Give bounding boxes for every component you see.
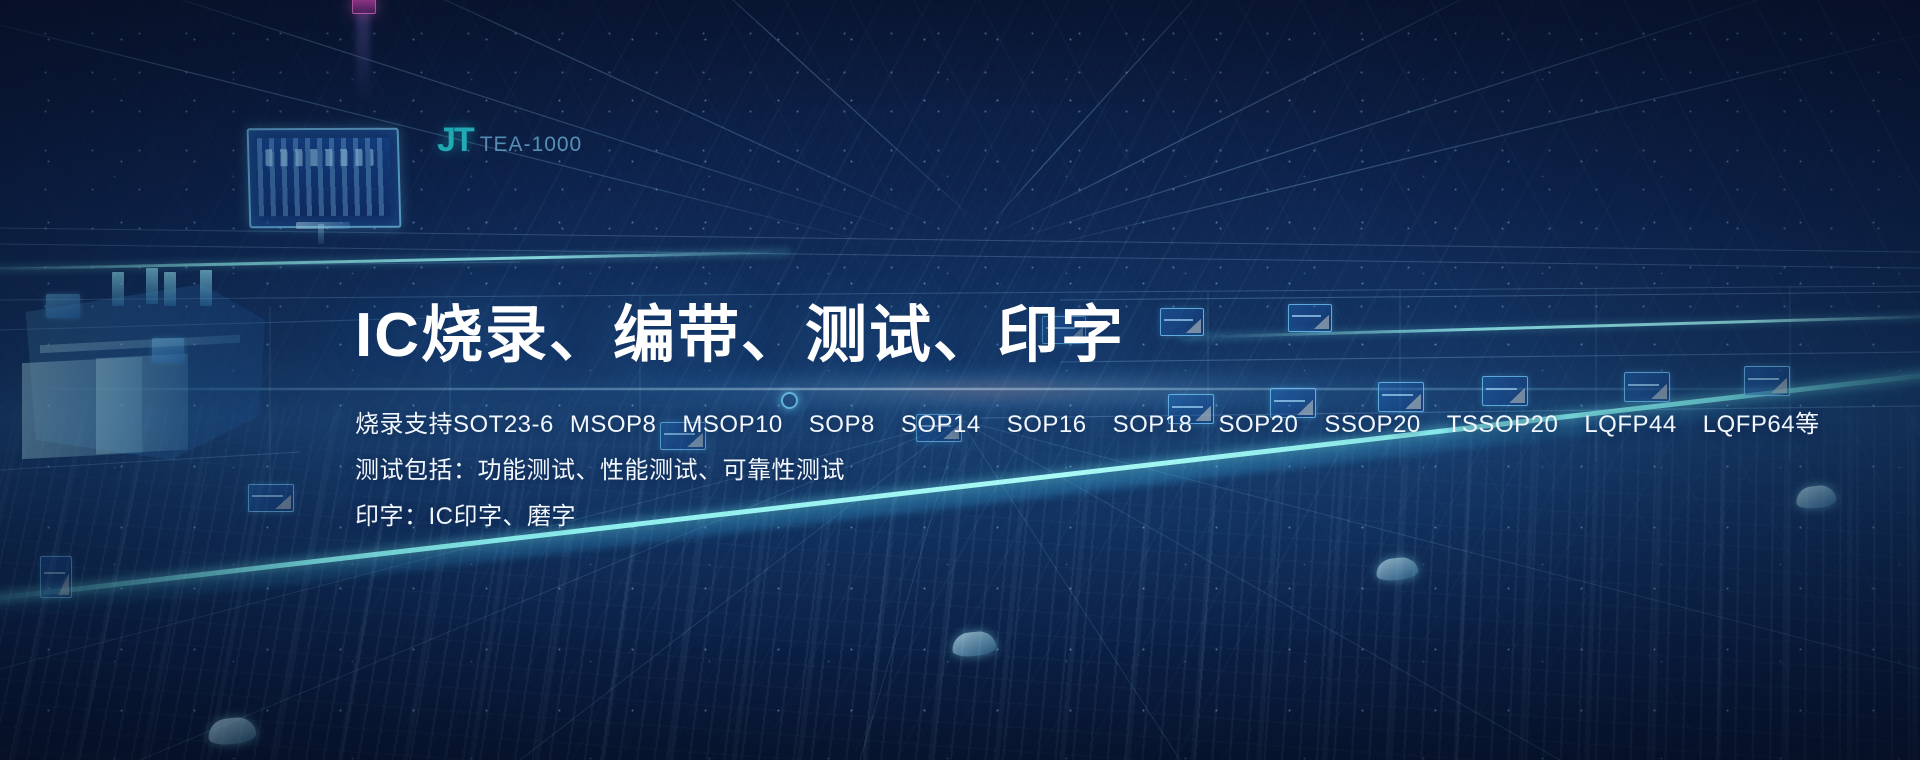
package-ssop20: SSOP20 [1324,402,1420,448]
package-msop8: MSOP8 [570,402,657,448]
package-suffix: 等 [1795,411,1819,438]
burn-support-line: 烧录支持SOT23-6MSOP8MSOP10SOP8SOP14SOP16SOP1… [355,402,1605,448]
marking-scope-line: 印字：IC印字、磨字 [355,494,1605,540]
package-lqfp44: LQFP44 [1584,402,1676,448]
package-sop18: SOP18 [1113,402,1193,448]
burn-support-label: 烧录支持SOT23-6 [355,411,554,438]
test-scope-line: 测试包括：功能测试、性能测试、可靠性测试 [355,448,1605,494]
package-sop14: SOP14 [901,402,981,448]
hero-banner: JT TEA-1000 IC烧录、编带、测试、印字 烧录支持SOT23-6MSO… [0,0,1920,760]
package-tssop20: TSSOP20 [1447,402,1559,448]
package-sop16: SOP16 [1007,402,1087,448]
package-msop10: MSOP10 [682,402,782,448]
package-sop20: SOP20 [1218,402,1298,448]
service-detail-list: 烧录支持SOT23-6MSOP8MSOP10SOP8SOP14SOP16SOP1… [355,402,1605,540]
package-sop8: SOP8 [809,402,875,448]
package-lqfp64: LQFP64 [1703,402,1795,448]
hero-content: IC烧录、编带、测试、印字 烧录支持SOT23-6MSOP8MSOP10SOP8… [355,300,1605,540]
page-title: IC烧录、编带、测试、印字 [355,300,1605,372]
